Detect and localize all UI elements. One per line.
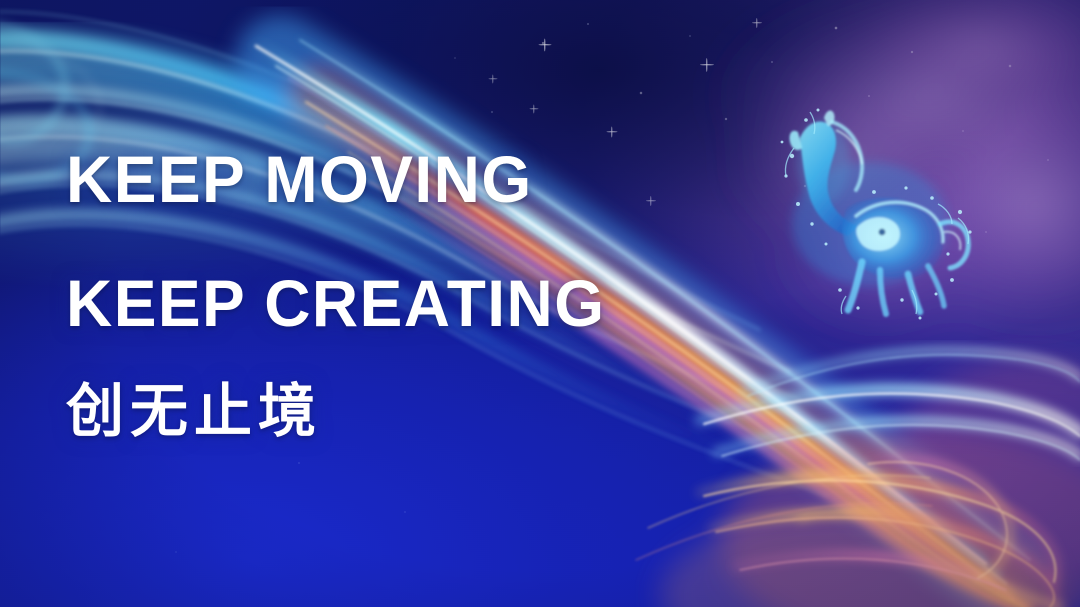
sparkle-star bbox=[538, 38, 551, 51]
sparkle-star bbox=[488, 74, 497, 83]
headline-block: KEEP MOVING KEEP CREATING 创无止境 bbox=[66, 146, 726, 440]
sparkle-star bbox=[700, 58, 714, 72]
water-splash-horse bbox=[762, 104, 978, 326]
headline-keep-moving: KEEP MOVING bbox=[66, 146, 706, 212]
subline-chinese: 创无止境 bbox=[66, 382, 726, 440]
sparkle-star bbox=[529, 104, 538, 113]
sparkle-star bbox=[606, 126, 617, 137]
sparkle-star bbox=[752, 18, 762, 28]
headline-keep-creating: KEEP CREATING bbox=[66, 270, 706, 336]
poster-canvas: KEEP MOVING KEEP CREATING 创无止境 bbox=[0, 0, 1080, 607]
